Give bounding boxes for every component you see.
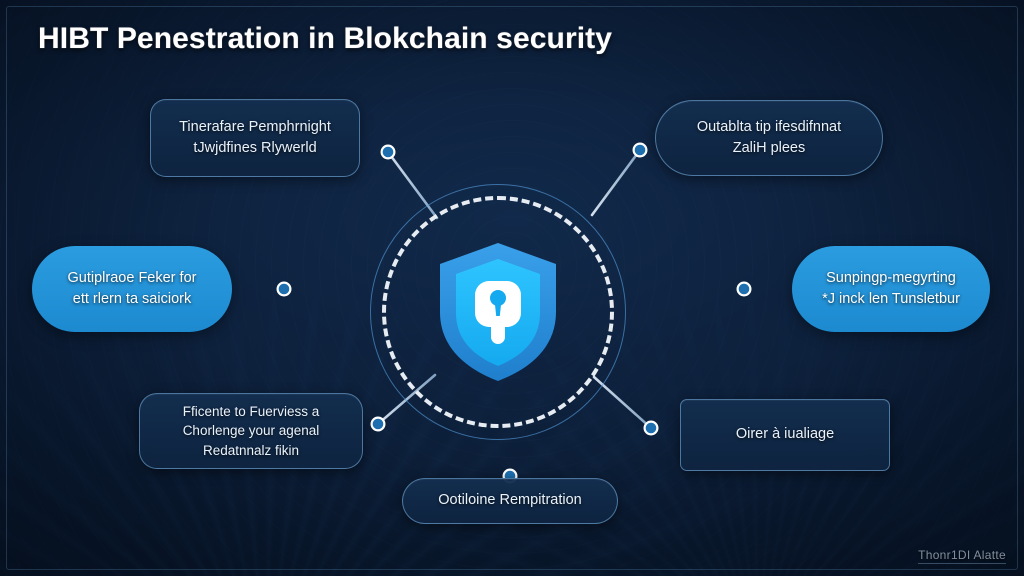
node-top-left[interactable]: Tinerafare Pemphrnight tJwjdfines Rlywer… [150,99,360,177]
node-bottom-left[interactable]: Fficente to Fuerviess a Chorlenge your a… [139,393,363,469]
node-top-right[interactable]: Outablta tip ifesdifnnat ZaliH plees [655,100,883,176]
node-bottom-left-label: Fficente to Fuerviess a Chorlenge your a… [183,402,320,459]
infographic-canvas: HIBT Penestration in Blokchain security [0,0,1024,576]
node-bottom-left-line-2: Chorlenge your agenal [183,421,320,440]
page-title: HIBT Penestration in Blokchain security [38,22,612,56]
node-top-right-line-1: Outablta tip ifesdifnnat [697,117,841,138]
node-bottom-right[interactable]: Oirer à iualiage [680,399,890,471]
shield-lock-icon [436,242,560,382]
node-bottom-center-line-1: Ootiloine Rempitration [438,490,581,511]
node-bottom-left-line-3: Redatnnalz fikin [183,441,320,460]
node-middle-left-line-2: ett rlern ta saiciork [68,289,197,310]
node-top-right-line-2: ZaliH plees [697,138,841,159]
hub-shield-group [382,196,614,428]
node-middle-left-line-1: Gutiplraoe Feker for [68,268,197,289]
node-middle-left[interactable]: Gutiplraoe Feker for ett rlern ta saicio… [32,246,232,332]
node-top-left-label: Tinerafare Pemphrnight tJwjdfines Rlywer… [179,117,331,159]
node-bottom-left-line-1: Fficente to Fuerviess a [183,402,320,421]
node-bottom-right-label: Oirer à iualiage [736,424,834,445]
node-middle-right-line-2: *J inck len Tunsletbur [822,289,960,310]
node-top-left-line-1: Tinerafare Pemphrnight [179,117,331,138]
node-bottom-center-label: Ootiloine Rempitration [438,490,581,511]
node-middle-right[interactable]: Sunpingp-megyrting *J inck len Tunsletbu… [792,246,990,332]
node-bottom-center[interactable]: Ootiloine Rempitration [402,478,618,524]
node-middle-right-label: Sunpingp-megyrting *J inck len Tunsletbu… [822,268,960,310]
node-middle-right-line-1: Sunpingp-megyrting [822,268,960,289]
node-bottom-right-line-1: Oirer à iualiage [736,424,834,445]
watermark: Thonr1DI Alatte [918,548,1006,564]
node-middle-left-label: Gutiplraoe Feker for ett rlern ta saicio… [68,268,197,310]
node-top-right-label: Outablta tip ifesdifnnat ZaliH plees [697,117,841,159]
node-top-left-line-2: tJwjdfines Rlywerld [179,138,331,159]
